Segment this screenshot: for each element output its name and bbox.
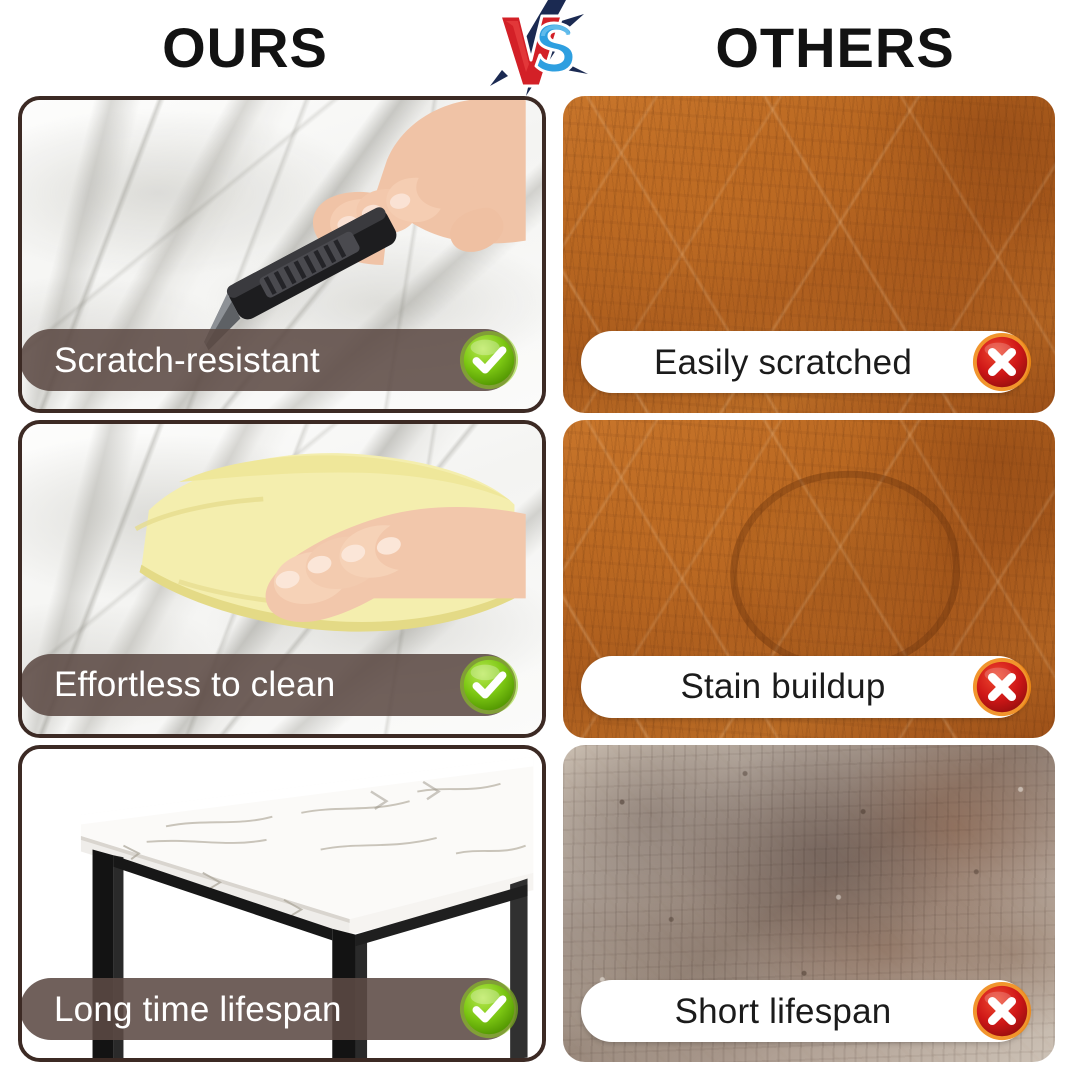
check-badge-icon <box>458 329 520 391</box>
ours-label-bar-lifespan: Long time lifespan <box>20 978 516 1040</box>
ours-panel-lifespan: Long time lifespan <box>18 745 546 1062</box>
others-column-title: OTHERS <box>620 20 1050 76</box>
cross-badge-icon <box>971 331 1033 393</box>
others-label-bar-scratch: Easily scratched <box>581 331 1029 393</box>
comparison-header: OURS OTHERS <box>0 0 1080 96</box>
check-badge-icon <box>458 978 520 1040</box>
ours-panel-clean: Effortless to clean <box>18 420 546 737</box>
others-label-bar-lifespan: Short lifespan <box>581 980 1029 1042</box>
others-label-text-scratch: Easily scratched <box>654 345 912 380</box>
check-badge-icon <box>458 654 520 716</box>
others-label-bar-stain: Stain buildup <box>581 656 1029 718</box>
others-panel-scratch: Easily scratched <box>563 96 1055 413</box>
ours-label-text-clean: Effortless to clean <box>54 667 335 702</box>
ours-label-bar-clean: Effortless to clean <box>20 654 516 716</box>
others-label-text-lifespan: Short lifespan <box>675 994 892 1029</box>
ours-label-bar-scratch: Scratch-resistant <box>20 329 516 391</box>
ours-label-text-lifespan: Long time lifespan <box>54 992 342 1027</box>
others-panel-stain: Stain buildup <box>563 420 1055 737</box>
ours-label-text-scratch: Scratch-resistant <box>54 343 320 378</box>
others-label-text-stain: Stain buildup <box>681 669 886 704</box>
others-panel-lifespan: Short lifespan <box>563 745 1055 1062</box>
cross-badge-icon <box>971 656 1033 718</box>
cross-badge-icon <box>971 980 1033 1042</box>
comparison-grid: Scratch-resistant <box>0 96 1080 1080</box>
ours-column-title: OURS <box>30 20 460 76</box>
ours-panel-scratch: Scratch-resistant <box>18 96 546 413</box>
vs-logo <box>480 0 600 96</box>
